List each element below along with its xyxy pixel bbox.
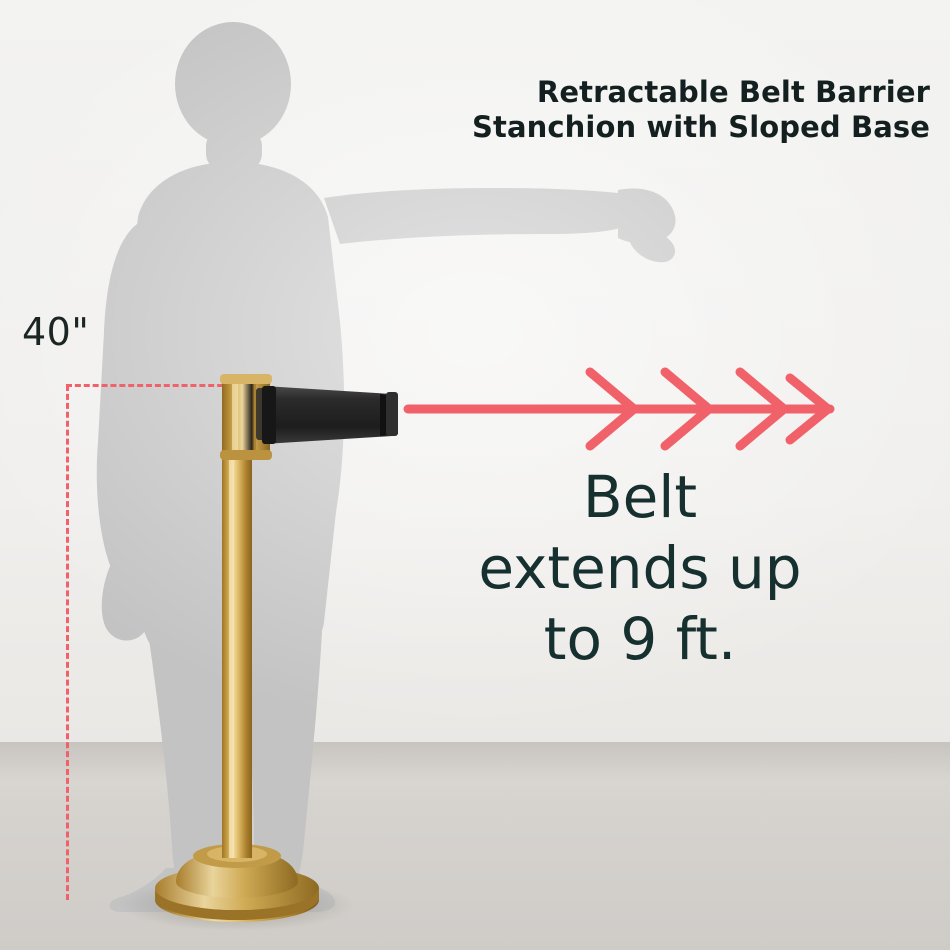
belt-caption-line1: Belt [400, 462, 880, 533]
belt-caption-line2: extends up [400, 533, 880, 604]
product-infographic: Retractable Belt Barrier Stanchion with … [0, 0, 950, 950]
belt-caption-line3: to 9 ft. [400, 604, 880, 675]
belt-length-caption: Belt extends up to 9 ft. [400, 462, 880, 674]
